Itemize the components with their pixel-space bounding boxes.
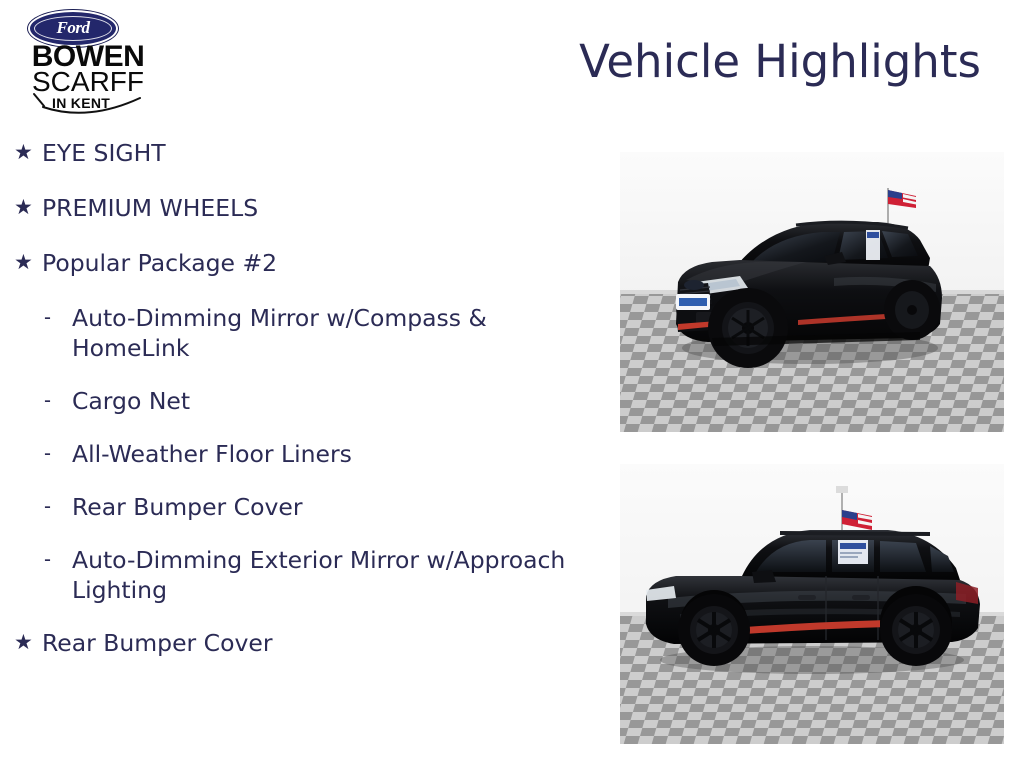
star-bullet-icon: ★ — [14, 628, 42, 658]
highlight-label: Cargo Net — [72, 386, 600, 416]
vehicle-photo-front-three-quarter — [620, 152, 1004, 432]
highlight-label: Rear Bumper Cover — [72, 492, 600, 522]
highlight-label: Rear Bumper Cover — [42, 628, 600, 658]
highlight-item: ★Popular Package #2 — [0, 248, 600, 278]
dash-bullet-icon: - — [44, 439, 72, 469]
star-bullet-icon: ★ — [14, 248, 42, 278]
highlight-label: All-Weather Floor Liners — [72, 439, 600, 469]
highlight-subitem: -Auto-Dimming Mirror w/Compass & HomeLin… — [0, 303, 600, 363]
highlight-label: Auto-Dimming Mirror w/Compass & HomeLink — [72, 303, 600, 363]
dash-bullet-icon: - — [44, 386, 72, 416]
vehicle-photo-front-svg — [620, 152, 1004, 432]
highlight-subitem: -Auto-Dimming Exterior Mirror w/Approach… — [0, 545, 600, 605]
dealer-city-label: IN KENT — [52, 96, 110, 110]
highlight-item: ★Rear Bumper Cover — [0, 628, 600, 658]
highlight-item: ★PREMIUM WHEELS — [0, 193, 600, 223]
vehicle-photo-side-svg — [620, 464, 1004, 744]
slide-canvas: Ford BOWEN SCARFF IN KENT Vehicle Highli… — [0, 0, 1024, 768]
vehicle-photo-side-profile — [620, 464, 1004, 744]
highlight-subitem: -All-Weather Floor Liners — [0, 439, 600, 469]
highlight-label: Popular Package #2 — [42, 248, 600, 278]
star-bullet-icon: ★ — [14, 193, 42, 223]
dash-bullet-icon: - — [44, 492, 72, 522]
dealer-logo: Ford BOWEN SCARFF IN KENT — [8, 4, 168, 122]
highlight-item: ★EYE SIGHT — [0, 138, 600, 168]
highlight-subitem: -Cargo Net — [0, 386, 600, 416]
star-bullet-icon: ★ — [14, 138, 42, 168]
ford-wordmark: Ford — [57, 19, 90, 36]
highlight-label: EYE SIGHT — [42, 138, 600, 168]
ford-oval-inner-ring: Ford — [34, 16, 112, 41]
dash-bullet-icon: - — [44, 545, 72, 575]
highlight-label: Auto-Dimming Exterior Mirror w/Approach … — [72, 545, 600, 605]
highlight-subitem: -Rear Bumper Cover — [0, 492, 600, 522]
vehicle-highlights-list: ★EYE SIGHT★PREMIUM WHEELS★Popular Packag… — [0, 138, 600, 683]
dash-bullet-icon: - — [44, 303, 72, 333]
highlight-label: PREMIUM WHEELS — [42, 193, 600, 223]
page-title: Vehicle Highlights — [560, 36, 1000, 88]
